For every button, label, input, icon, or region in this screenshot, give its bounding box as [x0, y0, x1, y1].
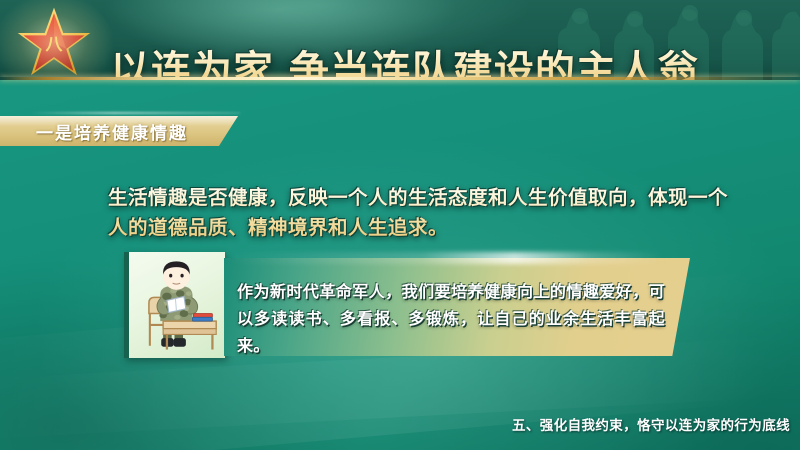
soldier-reading-at-desk-icon	[129, 252, 220, 358]
illustration-panel	[124, 252, 225, 358]
emblem-container: 八	[6, 6, 102, 80]
subbanner-highlight	[30, 112, 240, 114]
header-bar: 八 以连为家 争当连队建设的主人翁	[0, 0, 800, 80]
footer-caption: 五、强化自我约束，恪守以连为家的行为底线	[512, 414, 790, 434]
subbanner-label: 一是培养健康情趣	[36, 116, 188, 146]
slide-canvas: 八 以连为家 争当连队建设的主人翁 一是培养健康情趣 生活情趣是否健康，反映一个…	[0, 0, 800, 450]
header-divider	[0, 77, 800, 80]
quote-panel-text: 作为新时代革命军人，我们要培养健康向上的情趣爱好，可以多读读书、多看报、多锻炼，…	[237, 278, 665, 359]
emblem-glow	[0, 0, 116, 80]
main-paragraph: 生活情趣是否健康，反映一个人的生活态度和人生价值取向，体现一个人的道德品质、精神…	[108, 183, 728, 243]
